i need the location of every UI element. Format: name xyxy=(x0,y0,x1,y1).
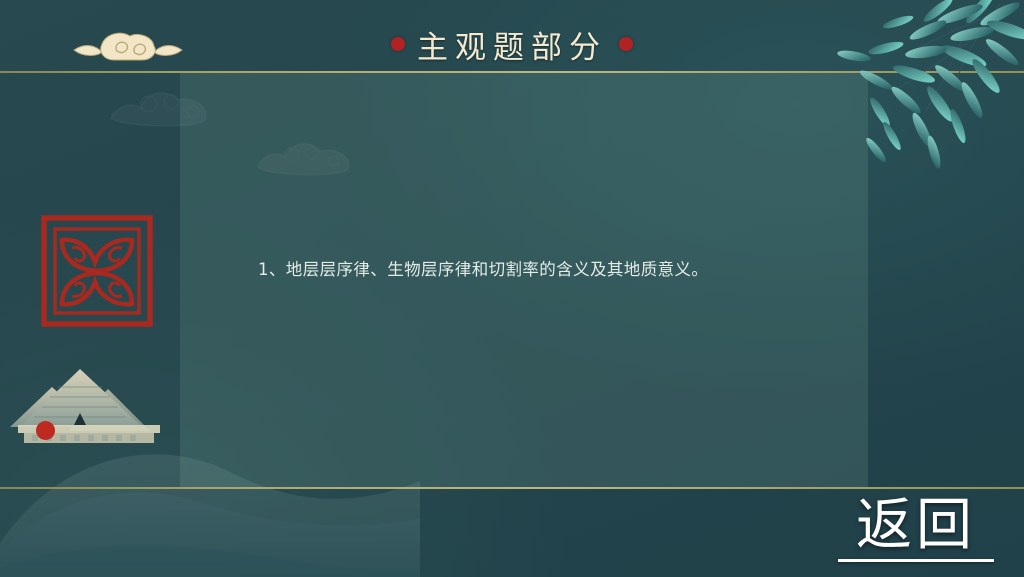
slide-canvas: 主观题部分 1、地层层序律、生物层序律和切割率的含义及其地质意义。 返回 xyxy=(0,0,1024,577)
question-text: 1、地层层序律、生物层序律和切割率的含义及其地质意义。 xyxy=(258,256,838,284)
page-title-text: 主观题部分 xyxy=(417,22,607,67)
return-button[interactable]: 返回 xyxy=(830,491,1002,569)
title-dot-left xyxy=(391,37,405,51)
red-sun-icon xyxy=(36,421,55,440)
return-button-label: 返回 xyxy=(856,498,976,554)
return-button-underline xyxy=(838,559,994,562)
page-title: 主观题部分 xyxy=(0,22,1024,66)
divider-bottom xyxy=(0,487,1024,489)
title-dot-right xyxy=(619,37,633,51)
chinese-seal-ornament-icon xyxy=(38,212,156,330)
content-panel: 1、地层层序律、生物层序律和切割率的含义及其地质意义。 xyxy=(180,73,868,487)
cloud-watermark-icon xyxy=(252,131,362,181)
